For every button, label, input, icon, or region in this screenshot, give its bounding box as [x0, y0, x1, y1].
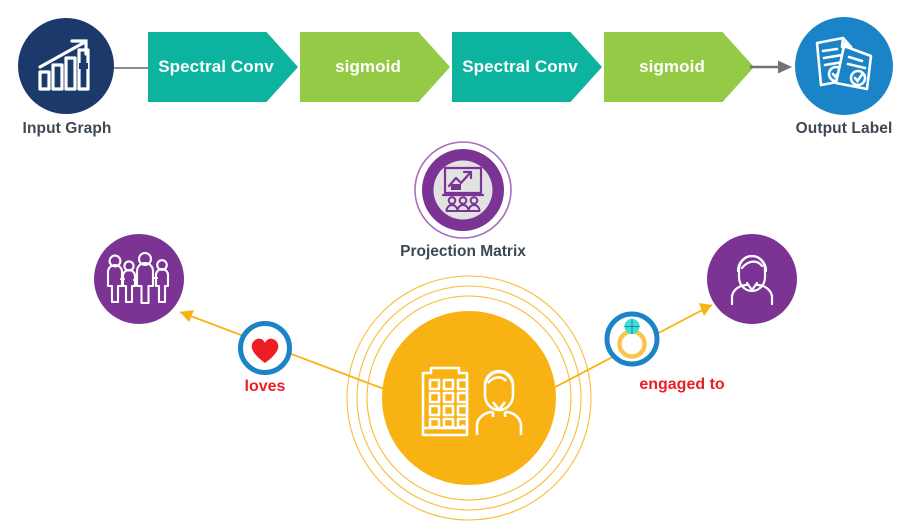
- person-avatar-icon: [723, 250, 781, 308]
- stage-spectral-conv-1[interactable]: Spectral Conv: [148, 32, 298, 102]
- stage-label: sigmoid: [335, 57, 401, 77]
- edge-badge-loves[interactable]: [236, 319, 294, 377]
- stage-sigmoid-2[interactable]: sigmoid: [604, 32, 754, 102]
- stage-spectral-conv-2[interactable]: Spectral Conv: [452, 32, 602, 102]
- projection-matrix-label: Projection Matrix: [383, 243, 543, 261]
- entity-node-person[interactable]: [707, 234, 797, 324]
- bar-chart-growth-icon: [36, 37, 96, 95]
- connector-stage4-to-output: [750, 56, 794, 78]
- edge-badge-engaged-to[interactable]: [602, 309, 662, 369]
- input-graph-node[interactable]: [18, 18, 114, 114]
- output-label-node[interactable]: [795, 17, 893, 115]
- edge-label-loves: loves: [215, 378, 315, 396]
- entity-node-family[interactable]: [94, 234, 184, 324]
- output-label-label: Output Label: [770, 120, 900, 138]
- stage-label: Spectral Conv: [462, 57, 578, 77]
- building-person-icon: [415, 357, 523, 439]
- projection-matrix-node[interactable]: [413, 140, 513, 240]
- documents-check-icon: [811, 34, 877, 98]
- stage-label: sigmoid: [639, 57, 705, 77]
- edge-label-engaged-to: engaged to: [612, 376, 752, 394]
- diagram-canvas: Input Graph Spectral Conv sigmoid Spectr…: [0, 0, 900, 521]
- family-group-icon: [103, 252, 175, 306]
- stage-label: Spectral Conv: [158, 57, 274, 77]
- center-entity-node[interactable]: [382, 311, 556, 485]
- connector-input-to-stage1: [110, 67, 150, 69]
- input-graph-label: Input Graph: [0, 120, 134, 138]
- stage-sigmoid-1[interactable]: sigmoid: [300, 32, 450, 102]
